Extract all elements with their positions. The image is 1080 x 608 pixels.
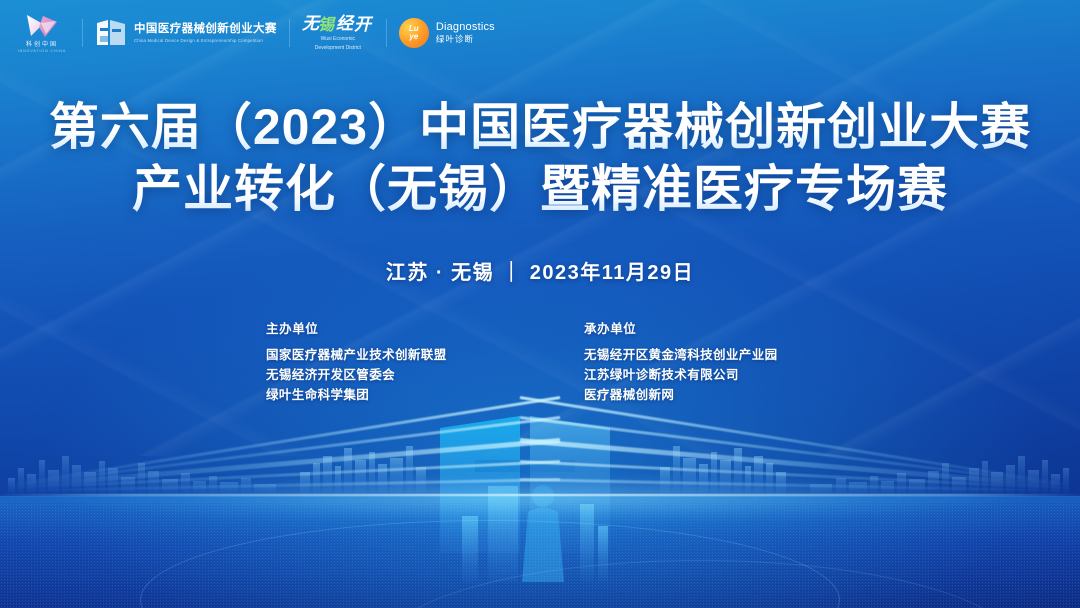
wuxi-calligraphy-icon: 无 锡 经 开 <box>302 14 374 34</box>
luye-cn-label: 绿叶诊断 <box>436 34 495 44</box>
host-item: 无锡经济开发区管委会 <box>266 365 496 385</box>
luye-en-label: Diagnostics <box>436 21 495 33</box>
competition-cn-label: 中国医疗器械创新创业大赛 <box>134 23 277 36</box>
luye-badge-icon: Lu ye <box>399 18 429 48</box>
water-reflection <box>0 496 1080 608</box>
competition-en-label: China Medical Device Design & Entreprene… <box>134 38 277 43</box>
title-line-2: 产业转化（无锡）暨精准医疗专场赛 <box>0 158 1080 220</box>
water-dot-texture <box>0 500 1080 608</box>
cohost-column: 承办单位 无锡经开区黄金湾科技创业产业园 江苏绿叶诊断技术有限公司 医疗器械创新… <box>584 318 814 405</box>
water-swoosh-2 <box>380 560 1020 608</box>
logo-luye-diagnostics[interactable]: Lu ye Diagnostics 绿叶诊断 <box>399 10 495 56</box>
logo-wuxi-economic-development-district[interactable]: 无 锡 经 开 Wuxi Economic Development Distri… <box>302 10 374 56</box>
host-item: 绿叶生命科学集团 <box>266 385 496 405</box>
title-line-1: 第六届（2023）中国医疗器械创新创业大赛 <box>0 96 1080 158</box>
light-rays-left <box>0 390 560 520</box>
wuxi-en-line1: Wuxi Economic <box>321 36 355 43</box>
water-swoosh-1 <box>140 520 840 608</box>
cohost-item: 无锡经开区黄金湾科技创业产业园 <box>584 345 814 365</box>
logo-divider-1 <box>82 19 83 47</box>
cohost-item: 医疗器械创新网 <box>584 385 814 405</box>
event-poster: 科创中国 INNOVATION CHINA 中国医疗器械创新创业大赛 China… <box>0 0 1080 608</box>
host-column: 主办单位 国家医疗器械产业技术创新联盟 无锡经济开发区管委会 绿叶生命科学集团 <box>266 318 496 405</box>
innovation-china-en-label: INNOVATION CHINA <box>18 50 66 54</box>
cohost-item: 江苏绿叶诊断技术有限公司 <box>584 365 814 385</box>
light-rays-right <box>520 390 1080 520</box>
svg-text:经: 经 <box>336 14 355 33</box>
horizon-line <box>0 494 1080 496</box>
logo-divider-3 <box>386 19 387 47</box>
host-heading: 主办单位 <box>266 318 496 337</box>
page-title: 第六届（2023）中国医疗器械创新创业大赛 产业转化（无锡）暨精准医疗专场赛 <box>0 96 1080 220</box>
innovation-china-cn-label: 科创中国 <box>26 42 58 48</box>
sponsor-logo-bar: 科创中国 INNOVATION CHINA 中国医疗器械创新创业大赛 China… <box>0 0 1080 66</box>
competition-book-icon <box>95 18 127 48</box>
logo-china-medical-device-competition[interactable]: 中国医疗器械创新创业大赛 China Medical Device Design… <box>95 10 277 56</box>
host-item: 国家医疗器械产业技术创新联盟 <box>266 345 496 365</box>
svg-text:锡: 锡 <box>318 16 336 34</box>
wuxi-en-line2: Development District <box>315 45 361 52</box>
svg-text:开: 开 <box>354 15 374 34</box>
organizers-section: 主办单位 国家医疗器械产业技术创新联盟 无锡经济开发区管委会 绿叶生命科学集团 … <box>0 318 1080 405</box>
center-landmark-watermark <box>380 398 700 598</box>
logo-divider-2 <box>289 19 290 47</box>
horizon-glow <box>0 470 1080 526</box>
innovation-china-icon <box>23 12 61 40</box>
cohost-heading: 承办单位 <box>584 318 814 337</box>
location-date-line: 江苏 · 无锡 ｜ 2023年11月29日 <box>0 256 1080 285</box>
background-decoration <box>0 0 1080 608</box>
logo-innovation-china[interactable]: 科创中国 INNOVATION CHINA <box>14 10 70 56</box>
luye-badge-line2: ye <box>409 33 418 41</box>
